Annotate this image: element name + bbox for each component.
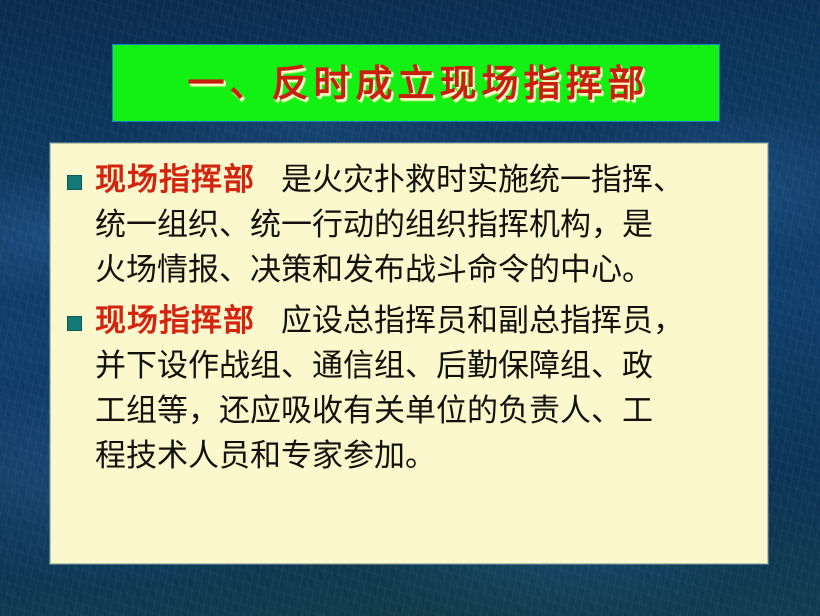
square-bullet-icon xyxy=(67,175,82,190)
bullet-text: 现场指挥部应设总指挥员和副总指挥员， 并下设作战组、通信组、后勤保障组、政 工组… xyxy=(95,299,757,479)
square-bullet-icon xyxy=(67,316,82,331)
bullet-lead-term: 现场指挥部 xyxy=(95,162,255,198)
content-panel: 现场指挥部是火灾扑救时实施统一指挥、 统一组织、统一行动的组织指挥机构，是 火场… xyxy=(50,143,768,564)
bullet-line: 工组等，还应吸收有关单位的负责人、工 xyxy=(95,389,757,434)
bullet-line: 并下设作战组、通信组、后勤保障组、政 xyxy=(95,344,757,389)
bullet-line: 程技术人员和专家参加。 xyxy=(95,434,757,479)
title-banner: 一、反时成立现场指挥部 xyxy=(112,44,720,122)
slide-title: 一、反时成立现场指挥部 xyxy=(183,65,650,102)
bullet-item: 现场指挥部是火灾扑救时实施统一指挥、 统一组织、统一行动的组织指挥机构，是 火场… xyxy=(61,158,757,293)
bullet-line: 应设总指挥员和副总指挥员， xyxy=(281,303,684,339)
bullet-item: 现场指挥部应设总指挥员和副总指挥员， 并下设作战组、通信组、后勤保障组、政 工组… xyxy=(61,299,757,479)
bullet-line: 统一组织、统一行动的组织指挥机构，是 xyxy=(95,203,757,248)
bullet-line: 火场情报、决策和发布战斗命令的中心。 xyxy=(95,248,757,293)
bullet-lead-term: 现场指挥部 xyxy=(95,303,255,339)
bullet-line: 是火灾扑救时实施统一指挥、 xyxy=(281,162,684,198)
bullet-text: 现场指挥部是火灾扑救时实施统一指挥、 统一组织、统一行动的组织指挥机构，是 火场… xyxy=(95,158,757,293)
